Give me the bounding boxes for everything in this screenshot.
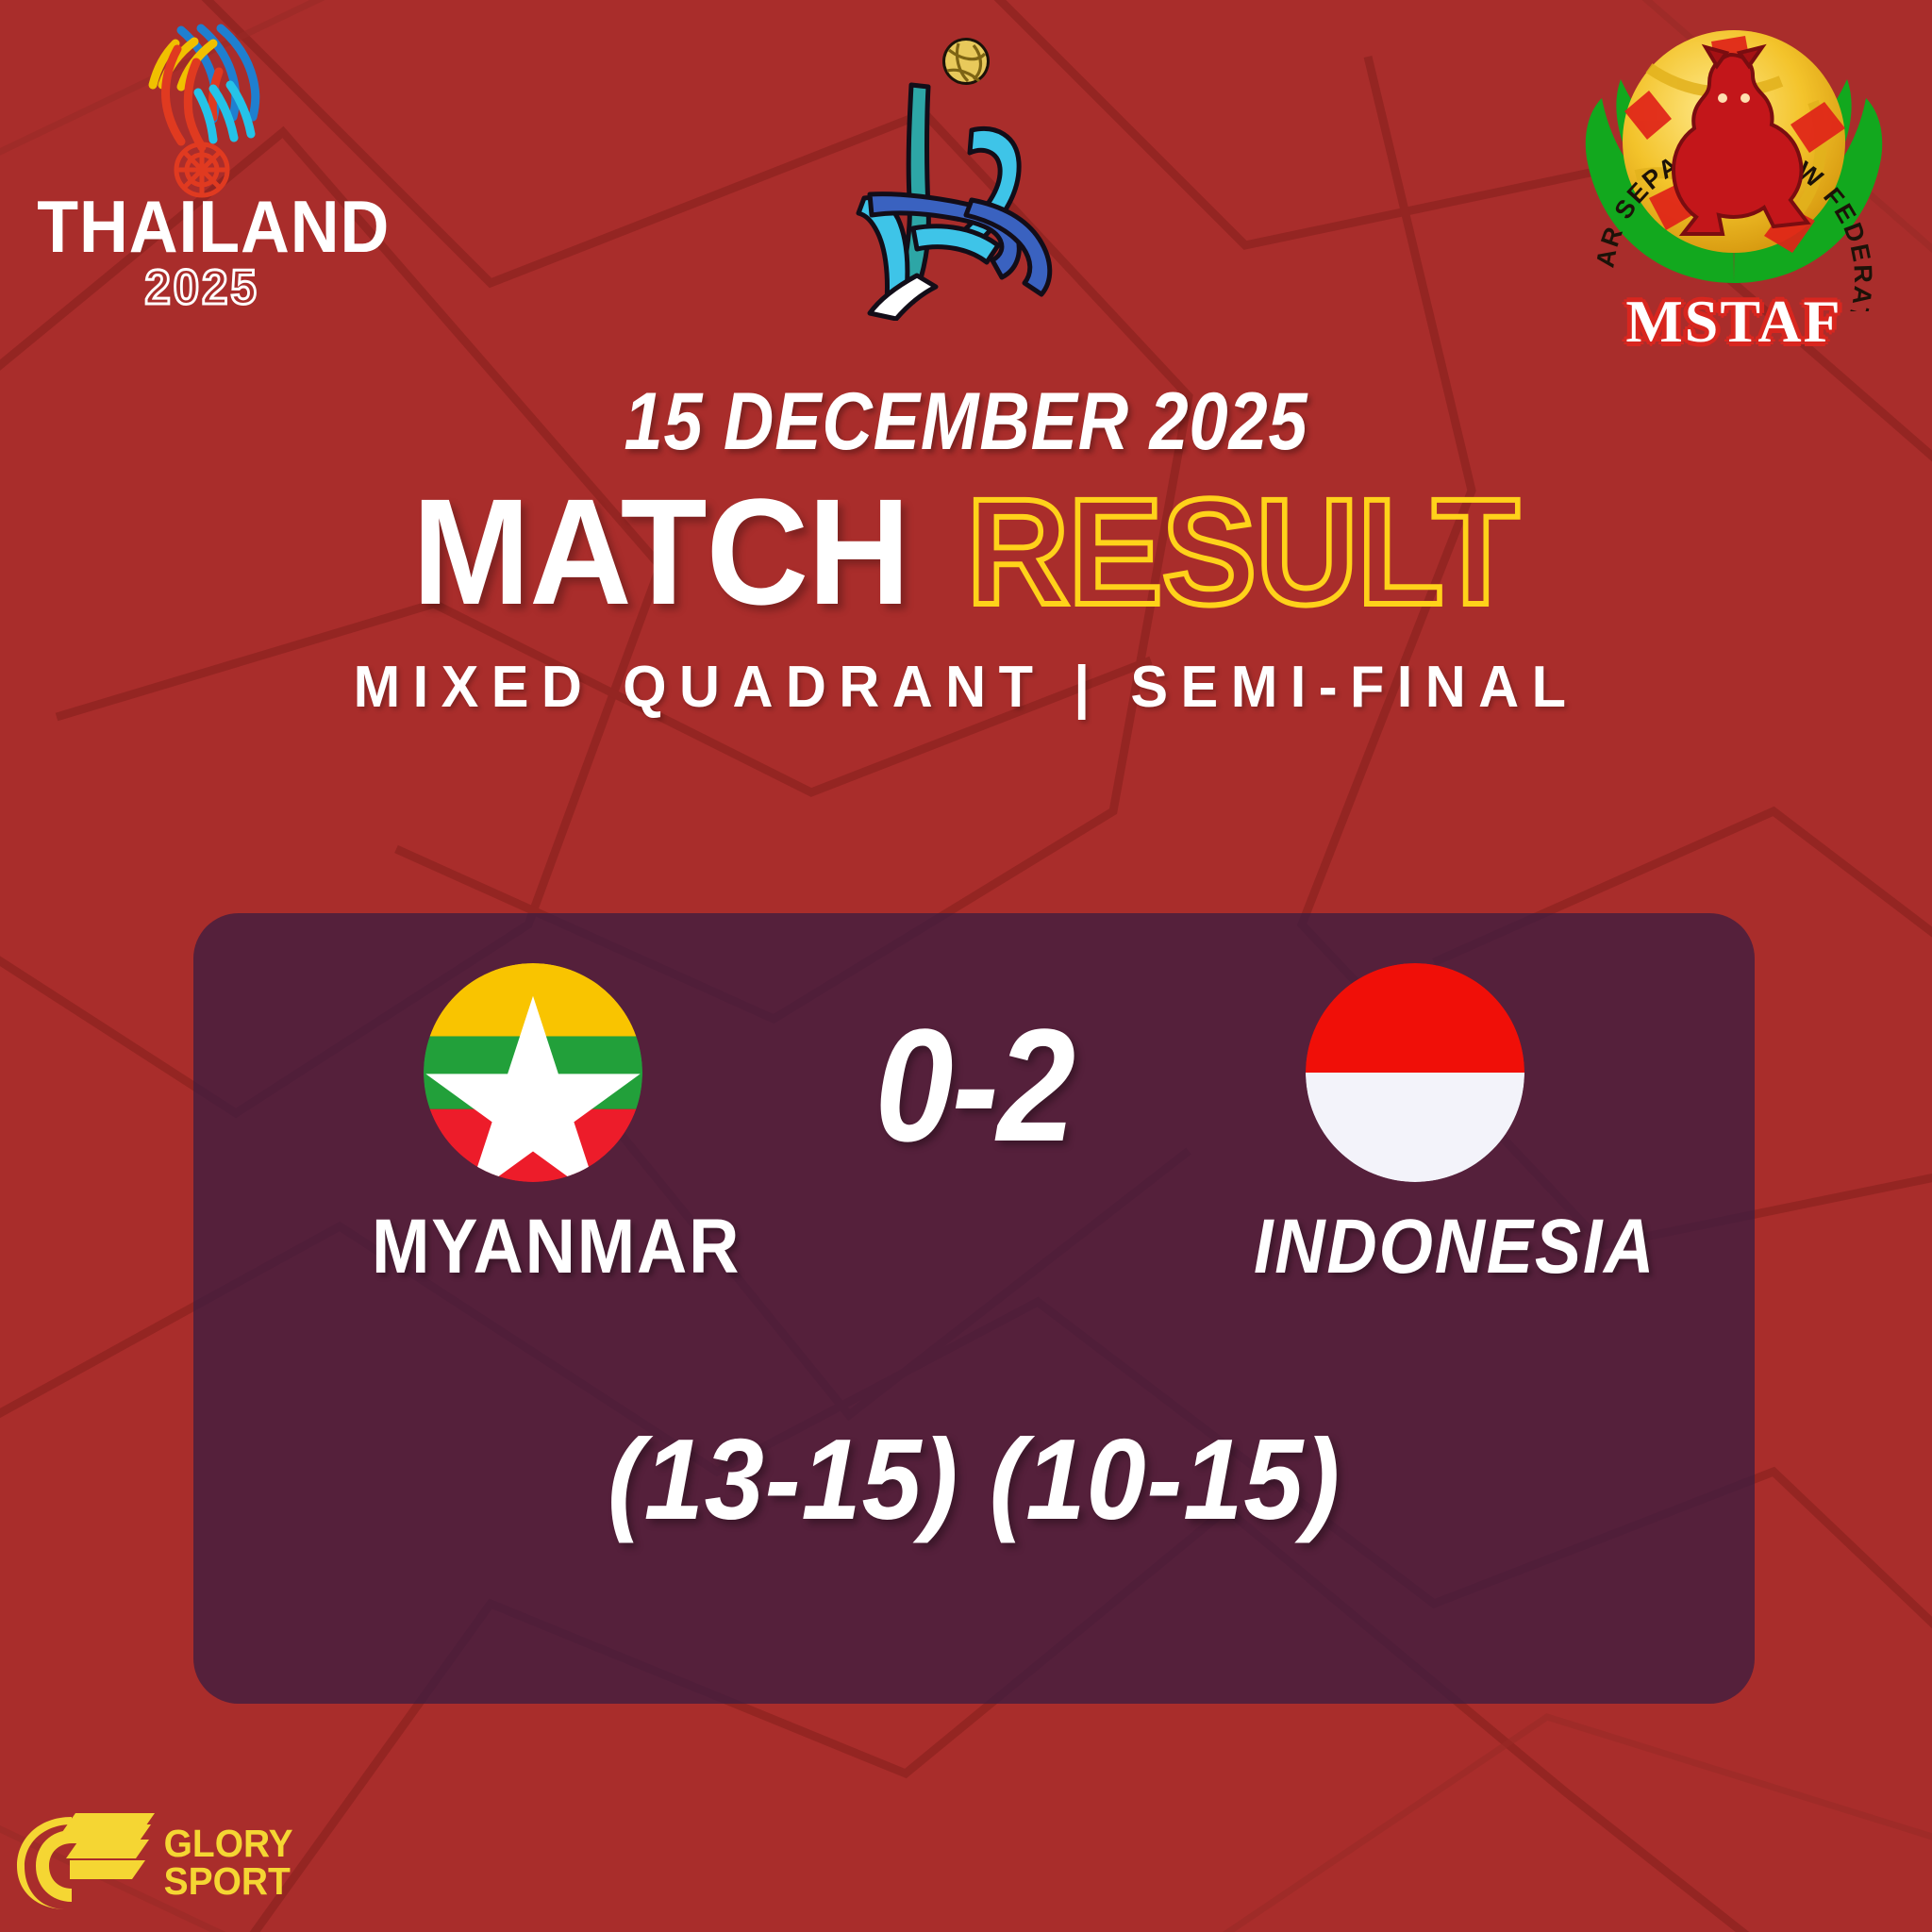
set-scores: (13-15) (10-15) <box>248 1413 1700 1545</box>
glory-sport-logo: GLORY SPORT <box>13 1806 325 1919</box>
glory-wing-g-icon <box>13 1811 155 1913</box>
title-result: RESULT <box>967 476 1519 627</box>
indonesia-flag-icon <box>1306 963 1524 1182</box>
headline-block: 15 DECEMBER 2025 MATCHRESULT MIXED QUADR… <box>0 375 1932 721</box>
myanmar-flag-icon <box>424 963 642 1182</box>
title-match: MATCH <box>411 476 908 627</box>
title-row: MATCHRESULT <box>0 476 1932 627</box>
mstaf-federation-logo: MYANMAR SEPAKTAKRAW FEDERATION MSTAF <box>1545 0 1923 368</box>
sepaktakraw-player-figure <box>830 19 1094 321</box>
glory-line-2: SPORT <box>164 1862 293 1900</box>
home-team-name: MYANMAR <box>372 1203 694 1291</box>
glory-sport-wordmark: GLORY SPORT <box>160 1824 296 1900</box>
match-date: 15 DECEMBER 2025 <box>135 375 1796 469</box>
sea-games-emblem-icon <box>108 9 296 198</box>
home-team: MYANMAR <box>354 963 712 1291</box>
match-subtitle: MIXED QUADRANT | SEMI-FINAL <box>39 654 1893 721</box>
thailand-wordmark: THAILAND <box>37 192 367 261</box>
teams-row: MYANMAR 0-2 INDONESIA <box>193 972 1755 1283</box>
away-team: INDONESIA <box>1236 963 1594 1291</box>
result-card: MYANMAR 0-2 INDONESIA (13-15) (10-15) <box>193 913 1755 1704</box>
match-result-poster: THAILAND 2025 <box>0 0 1932 1932</box>
glory-line-1: GLORY <box>164 1824 293 1862</box>
thailand-year: 2025 <box>32 259 373 316</box>
away-team-name: INDONESIA <box>1254 1203 1576 1291</box>
rattan-ball-icon <box>942 38 990 85</box>
thailand-2025-logo: THAILAND 2025 <box>23 9 381 377</box>
mstaf-emblem-icon: MYANMAR SEPAKTAKRAW FEDERATION <box>1545 0 1923 311</box>
match-score: 0-2 <box>874 993 1074 1178</box>
